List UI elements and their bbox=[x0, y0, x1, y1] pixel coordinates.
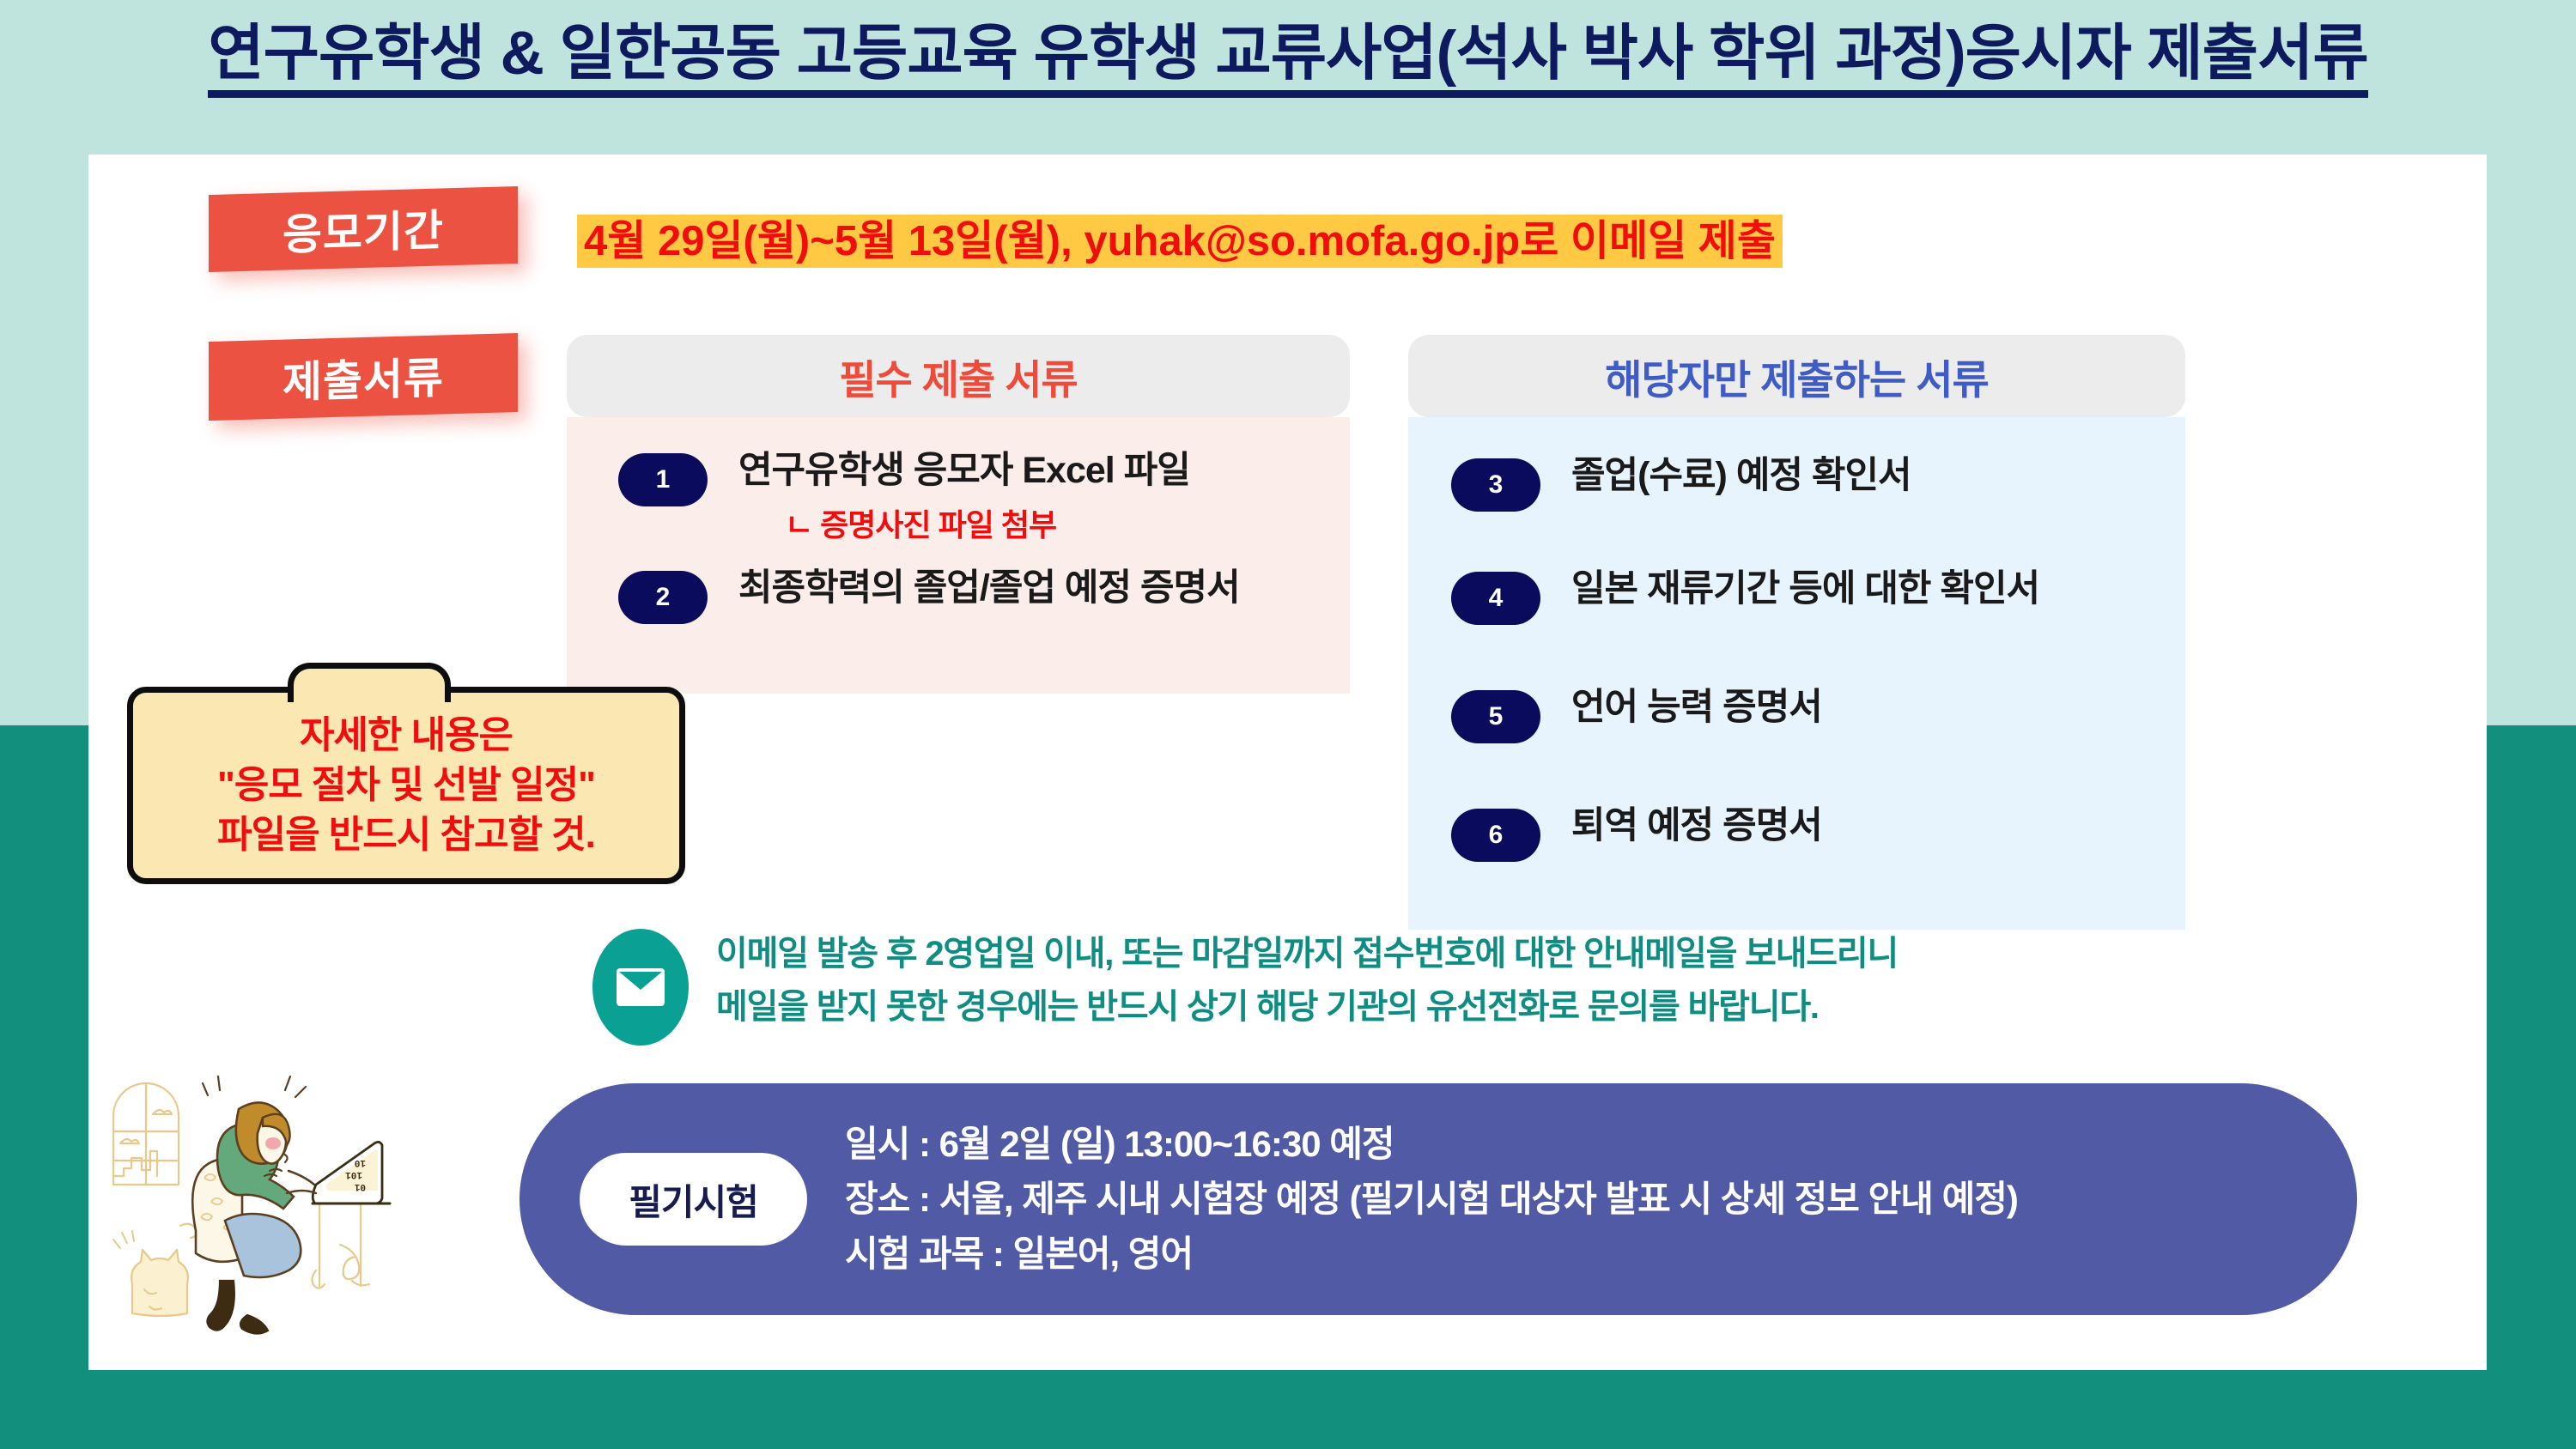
optional-documents-card: 해당자만 제출하는 서류 3 졸업(수료) 예정 확인서 4 일본 재류기간 등… bbox=[1408, 335, 2185, 930]
item-number-badge: 1 bbox=[618, 453, 708, 506]
period-ribbon-label: 응모기간 bbox=[209, 186, 518, 272]
exam-line-datetime: 일시 : 6월 2일 (일) 13:00~16:30 예정 bbox=[845, 1117, 2018, 1172]
item-label: 연구유학생 응모자 Excel 파일 bbox=[738, 450, 1190, 492]
optional-documents-heading: 해당자만 제출하는 서류 bbox=[1408, 335, 2185, 417]
callout-box: 자세한 내용은 "응모 절차 및 선발 일정" 파일을 반드시 참고할 것. bbox=[127, 687, 685, 884]
optional-documents-body: 3 졸업(수료) 예정 확인서 4 일본 재류기간 등에 대한 확인서 5 언어… bbox=[1408, 417, 2185, 930]
svg-text:10: 10 bbox=[355, 1157, 366, 1167]
exam-line-subjects: 시험 과목 : 일본어, 영어 bbox=[845, 1227, 2018, 1282]
callout-line-3: 파일을 반드시 참고할 것. bbox=[217, 810, 595, 860]
item-number-badge: 5 bbox=[1451, 690, 1540, 743]
written-exam-bar: 필기시험 일시 : 6월 2일 (일) 13:00~16:30 예정 장소 : … bbox=[519, 1083, 2357, 1315]
item-label: 일본 재류기간 등에 대한 확인서 bbox=[1571, 568, 2039, 610]
item-number-badge: 3 bbox=[1451, 458, 1540, 512]
item-label: 최종학력의 졸업/졸업 예정 증명서 bbox=[738, 567, 1240, 609]
mail-notice: 이메일 발송 후 2영업일 이내, 또는 마감일까지 접수번호에 대한 안내메일… bbox=[592, 927, 2181, 1046]
required-documents-card: 필수 제출 서류 1 연구유학생 응모자 Excel 파일 ㄴ 증명사진 파일 … bbox=[567, 335, 1350, 694]
list-item: 5 언어 능력 증명서 bbox=[1451, 687, 2185, 743]
callout-line-2: "응모 절차 및 선발 일정" bbox=[217, 761, 595, 810]
required-documents-heading: 필수 제출 서류 bbox=[567, 335, 1350, 417]
callout-notch-cover bbox=[294, 692, 445, 706]
item-label: 졸업(수료) 예정 확인서 bbox=[1571, 455, 1911, 497]
svg-text:01: 01 bbox=[354, 1181, 366, 1191]
list-item: 1 연구유학생 응모자 Excel 파일 ㄴ 증명사진 파일 첨부 bbox=[618, 450, 1350, 545]
mail-notice-line-1: 이메일 발송 후 2영업일 이내, 또는 마감일까지 접수번호에 대한 안내메일… bbox=[716, 927, 1898, 980]
item-number-badge: 4 bbox=[1451, 572, 1540, 625]
envelope-icon bbox=[592, 929, 689, 1046]
list-item: 4 일본 재류기간 등에 대한 확인서 bbox=[1451, 568, 2185, 625]
item-number-badge: 6 bbox=[1451, 809, 1540, 862]
period-value: 4월 29일(월)~5월 13일(월), yuhak@so.mofa.go.jp… bbox=[577, 215, 1783, 268]
page-title: 연구유학생 & 일한공동 고등교육 유학생 교류사업(석사 박사 학위 과정)응… bbox=[0, 19, 2576, 98]
page-title-text: 연구유학생 & 일한공동 고등교육 유학생 교류사업(석사 박사 학위 과정)응… bbox=[208, 22, 2367, 98]
item-label: 퇴역 예정 증명서 bbox=[1571, 805, 1822, 847]
mail-notice-line-2: 메일을 받지 못한 경우에는 반드시 상기 해당 기관의 유선전화로 문의를 바… bbox=[716, 980, 1898, 1034]
list-item: 6 퇴역 예정 증명서 bbox=[1451, 805, 2185, 862]
woman-at-laptop-illustration: 01 101 10 bbox=[94, 1064, 455, 1365]
svg-text:101: 101 bbox=[345, 1169, 362, 1179]
required-documents-body: 1 연구유학생 응모자 Excel 파일 ㄴ 증명사진 파일 첨부 2 최종학력… bbox=[567, 417, 1350, 694]
item-label: 언어 능력 증명서 bbox=[1571, 687, 1822, 729]
list-item: 3 졸업(수료) 예정 확인서 bbox=[1451, 455, 2185, 512]
exam-details: 일시 : 6월 2일 (일) 13:00~16:30 예정 장소 : 서울, 제… bbox=[845, 1117, 2018, 1281]
item-sublabel: ㄴ 증명사진 파일 첨부 bbox=[785, 500, 1190, 545]
list-item: 2 최종학력의 졸업/졸업 예정 증명서 bbox=[618, 567, 1350, 624]
exam-line-location: 장소 : 서울, 제주 시내 시험장 예정 (필기시험 대상자 발표 시 상세 … bbox=[845, 1172, 2018, 1227]
exam-badge: 필기시험 bbox=[580, 1153, 807, 1246]
item-number-badge: 2 bbox=[618, 571, 708, 624]
documents-ribbon-label: 제출서류 bbox=[209, 333, 518, 421]
callout-line-1: 자세한 내용은 bbox=[300, 711, 513, 761]
mail-notice-text: 이메일 발송 후 2영업일 이내, 또는 마감일까지 접수번호에 대한 안내메일… bbox=[716, 927, 1898, 1034]
